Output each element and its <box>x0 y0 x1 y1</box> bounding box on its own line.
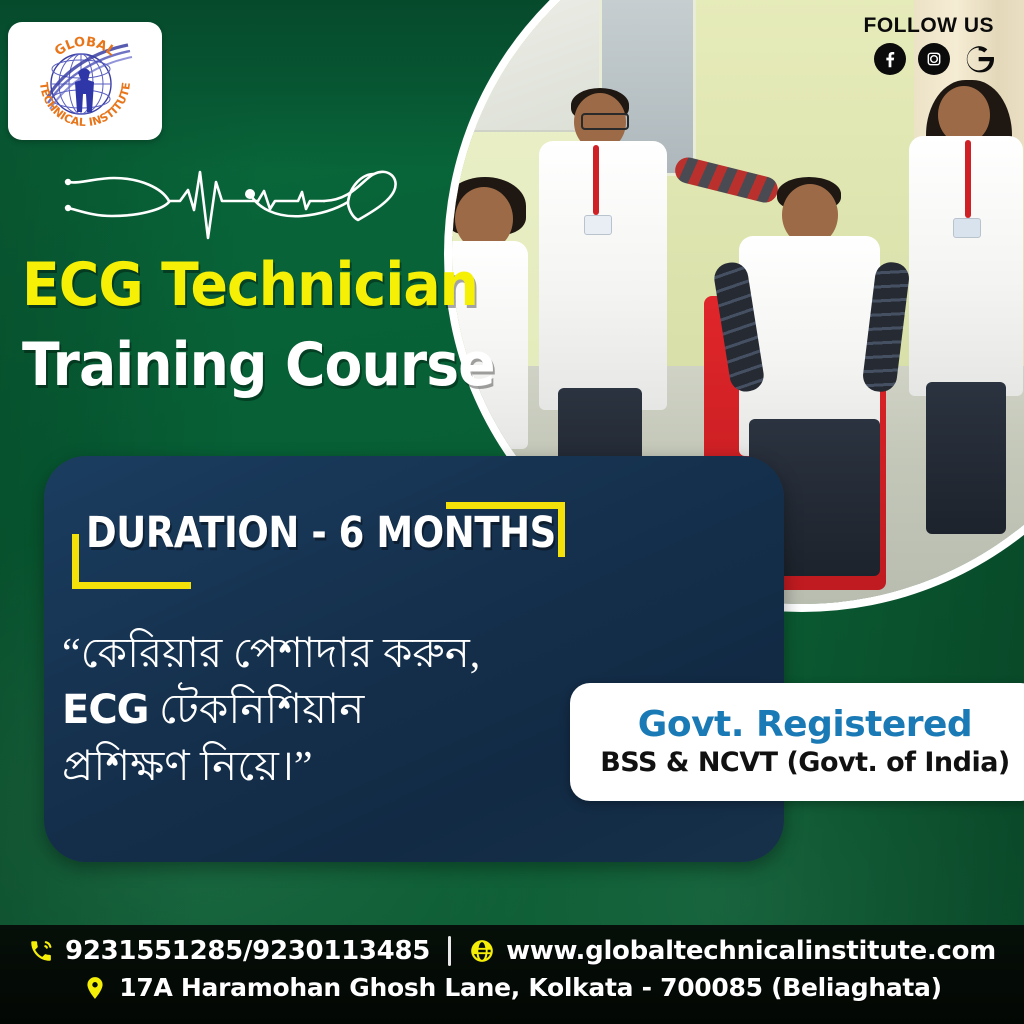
google-icon[interactable] <box>962 43 994 75</box>
duration-label: DURATION - 6 MONTHS <box>86 512 556 555</box>
quote-ecg-bold: ECG <box>62 687 149 733</box>
address-text: 17A Haramohan Ghosh Lane, Kolkata - 7000… <box>119 973 941 1002</box>
poster: FOLLOW US <box>0 0 1024 1024</box>
quote-line-1: “কেরিয়ার পেশাদার করুন, <box>62 626 532 682</box>
govt-registered-card: Govt. Registered BSS & NCVT (Govt. of In… <box>570 683 1024 801</box>
follow-us-block: FOLLOW US <box>864 14 994 75</box>
page-title-line2: Training Course <box>22 335 495 395</box>
institute-logo: GLOBAL TECHNICAL INSTITUTE <box>26 29 144 133</box>
govt-card-subtitle: BSS & NCVT (Govt. of India) <box>600 747 1010 778</box>
location-pin-icon <box>82 975 108 1001</box>
govt-card-title: Govt. Registered <box>638 706 972 744</box>
quote-line-2-rest: টেকনিশিয়ান <box>149 687 365 733</box>
quote-line-2: ECG টেকনিশিয়ান <box>62 682 532 738</box>
stethoscope-ecg-heart-icon <box>62 160 402 250</box>
follow-us-label: FOLLOW US <box>864 14 994 38</box>
address-item[interactable]: 17A Haramohan Ghosh Lane, Kolkata - 7000… <box>82 973 941 1002</box>
instagram-icon[interactable] <box>918 43 950 75</box>
globe-icon <box>469 938 495 964</box>
quote-line-3: প্রশিক্ষণ নিয়ে।” <box>62 739 532 795</box>
social-icons <box>864 43 994 75</box>
page-title-line1: ECG Technician <box>22 255 478 315</box>
bengali-quote: “কেরিয়ার পেশাদার করুন, ECG টেকনিশিয়ান … <box>62 626 532 795</box>
facebook-icon[interactable] <box>874 43 906 75</box>
website-item[interactable]: www.globaltechnicalinstitute.com <box>469 936 996 966</box>
footer-divider <box>448 936 451 966</box>
phone-number: 9231551285/9230113485 <box>65 936 430 966</box>
footer-row-address: 17A Haramohan Ghosh Lane, Kolkata - 7000… <box>0 973 1024 1002</box>
footer-row-contact: 9231551285/9230113485 www.globaltechnica… <box>0 936 1024 966</box>
phone-icon <box>28 938 54 964</box>
phone-item[interactable]: 9231551285/9230113485 <box>28 936 430 966</box>
photo-person-student-right <box>900 86 1024 534</box>
duration-badge: DURATION - 6 MONTHS <box>86 512 632 555</box>
website-url: www.globaltechnicalinstitute.com <box>506 936 996 966</box>
contact-footer: 9231551285/9230113485 www.globaltechnica… <box>0 925 1024 1024</box>
institute-logo-card: GLOBAL TECHNICAL INSTITUTE <box>8 22 162 140</box>
